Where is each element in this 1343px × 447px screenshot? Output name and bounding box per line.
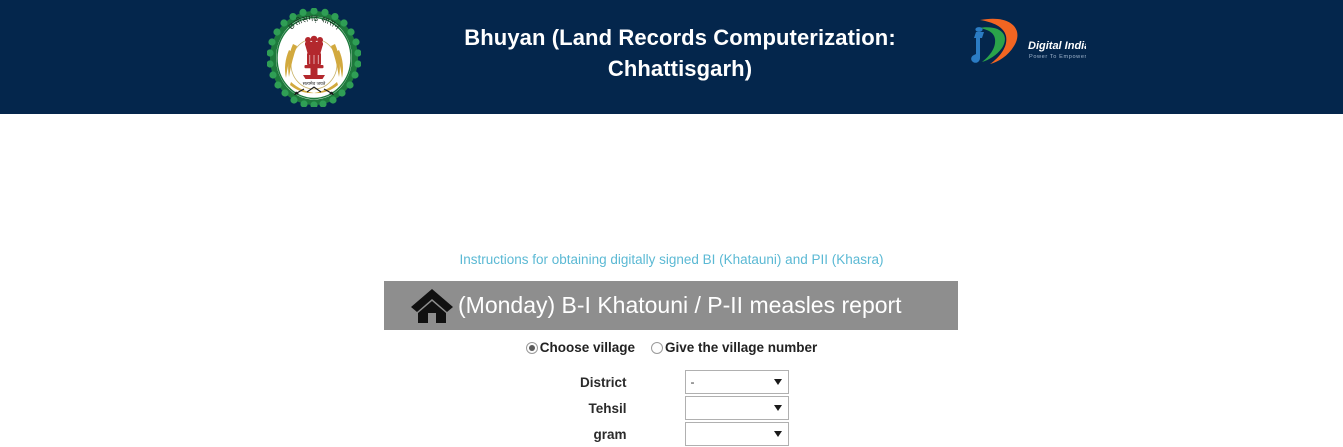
- site-header: छत्तीसगढ़ शासन सत्यमेव ज: [0, 0, 1343, 114]
- page-content: Instructions for obtaining digitally sig…: [0, 114, 1343, 429]
- report-title-text: (Monday) B-I Khatouni / P-II measles rep…: [458, 294, 902, 317]
- form-row-tehsil: Tehsil: [0, 395, 1343, 421]
- label-district: District: [555, 375, 685, 390]
- district-select[interactable]: -: [685, 370, 789, 394]
- page-title: Bhuyan (Land Records Computerization: Ch…: [400, 22, 960, 84]
- tehsil-select-wrapper[interactable]: [685, 396, 789, 420]
- chhattisgarh-government-emblem: छत्तीसगढ़ शासन सत्यमेव ज: [267, 8, 361, 107]
- district-select-wrapper[interactable]: -: [685, 370, 789, 394]
- village-selection-form: District - Tehsil gram: [0, 369, 1343, 447]
- radio-label-choose-village: Choose village: [540, 340, 635, 355]
- radio-option-choose-village[interactable]: Choose village: [526, 340, 635, 355]
- home-icon: [410, 288, 454, 324]
- instructions-link[interactable]: Instructions for obtaining digitally sig…: [0, 252, 1343, 267]
- radio-option-village-number[interactable]: Give the village number: [651, 340, 817, 355]
- radio-indicator-choose-village[interactable]: [526, 342, 538, 354]
- tehsil-select[interactable]: [685, 396, 789, 420]
- svg-text:सत्यमेव जयते: सत्यमेव जयते: [303, 80, 326, 87]
- gram-select[interactable]: [685, 422, 789, 446]
- form-row-gram: gram: [0, 421, 1343, 447]
- digital-india-wordmark: Digital India: [1028, 40, 1086, 52]
- radio-indicator-village-number[interactable]: [651, 342, 663, 354]
- radio-label-village-number: Give the village number: [665, 340, 817, 355]
- report-title-bar: (Monday) B-I Khatouni / P-II measles rep…: [384, 281, 958, 330]
- label-tehsil: Tehsil: [555, 401, 685, 416]
- village-mode-radio-group: Choose village Give the village number: [0, 340, 1343, 355]
- digital-india-logo: Digital India Power To Empower: [968, 16, 1086, 70]
- gram-select-wrapper[interactable]: [685, 422, 789, 446]
- digital-india-tagline: Power To Empower: [1029, 54, 1086, 60]
- form-row-district: District -: [0, 369, 1343, 395]
